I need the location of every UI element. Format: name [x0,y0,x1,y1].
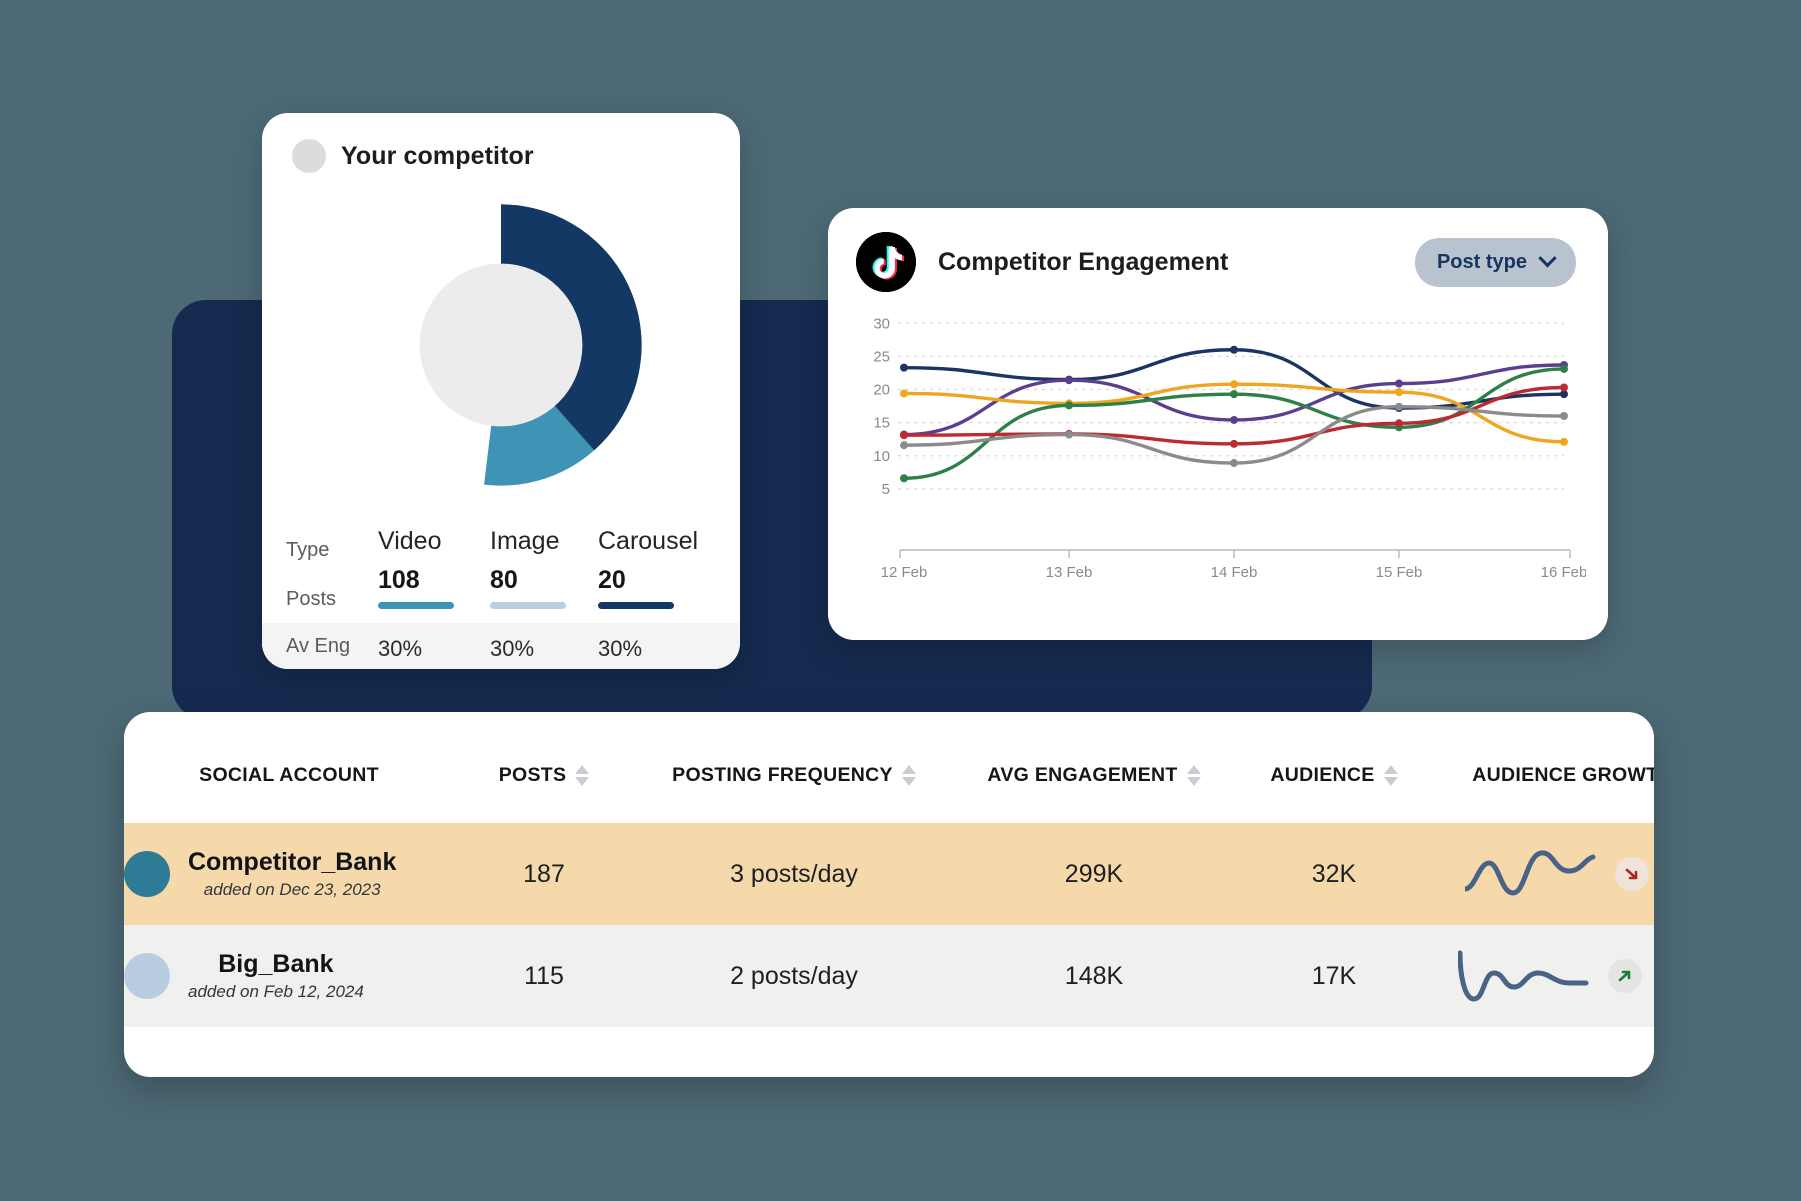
stats-aveng-video: 30% [378,635,490,662]
post-type-donut-chart [353,197,649,493]
cell-posts: 187 [454,823,634,925]
data-point [1395,419,1403,427]
data-point [1395,388,1403,396]
stats-posts-row: Posts 108 80 20 [286,566,716,615]
cell-audience-growth: 15% [1434,925,1654,1027]
stats-aveng-label: Av Eng [286,635,378,662]
arrow-down-right-icon [1615,857,1649,891]
y-axis-tick: 15 [873,415,890,432]
stats-posts-image: 80 [490,566,598,595]
cell-posting-frequency: 2 posts/day [634,925,954,1027]
column-header-audience-growth[interactable]: AUDIENCE GROWTH [1434,712,1654,823]
data-point [1230,390,1238,398]
header-label: AVG ENGAGEMENT [987,764,1177,787]
cell-posting-frequency: 3 posts/day [634,823,954,925]
y-axis-tick: 30 [873,315,890,332]
data-point [1230,459,1238,467]
stats-aveng-row: Av Eng 30% 30% 30% [262,623,740,669]
stats-posts-image-cell: 80 [490,566,598,615]
sort-icon[interactable] [575,765,589,786]
stats-aveng-carousel: 30% [598,635,716,662]
dashboard-stage: Your competitor Type Video Image Carouse… [0,0,1801,1201]
column-header-audience[interactable]: AUDIENCE [1234,712,1434,823]
account-added-date: added on Dec 23, 2023 [188,880,396,900]
stats-bar-carousel [598,602,674,609]
post-type-filter-label: Post type [1437,251,1527,274]
competitor-donut-card: Your competitor Type Video Image Carouse… [262,113,740,669]
header-label: SOCIAL ACCOUNT [199,764,379,787]
data-point [1230,380,1238,388]
account-name: Big_Bank [188,950,364,979]
data-point [1560,438,1568,446]
cell-audience: 17K [1234,925,1434,1027]
donut-chart-wrap [262,197,740,493]
stats-aveng-image: 30% [490,635,598,662]
cell-avg-engagement: 299K [954,823,1234,925]
account-added-date: added on Feb 12, 2024 [188,982,364,1002]
social-accounts-table-card: SOCIAL ACCOUNT POSTS POSTING FREQUENCY [124,712,1654,1077]
data-point [900,389,908,397]
stats-posts-video: 108 [378,566,490,595]
stats-posts-label: Posts [286,566,378,615]
data-point [1395,380,1403,388]
x-axis-label: 12 Feb [881,564,928,581]
data-point [1560,384,1568,392]
cell-social-account: Competitor_Bank added on Dec 23, 2023 [124,823,454,925]
x-axis-label: 13 Feb [1046,564,1093,581]
stats-posts-carousel: 20 [598,566,716,595]
chevron-down-icon [1538,249,1556,267]
social-accounts-table: SOCIAL ACCOUNT POSTS POSTING FREQUENCY [124,712,1654,1027]
account-avatar-icon [124,953,170,999]
y-axis-tick: 10 [873,448,890,465]
sort-icon[interactable] [902,765,916,786]
stats-type-carousel: Carousel [598,527,716,566]
stats-posts-carousel-cell: 20 [598,566,716,615]
y-axis-tick: 25 [873,348,890,365]
cell-audience-growth: 8% [1434,823,1654,925]
table-header-row: SOCIAL ACCOUNT POSTS POSTING FREQUENCY [124,712,1654,823]
data-point [900,364,908,372]
engagement-line-plot: 5101520253012 Feb13 Feb14 Feb15 Feb16 Fe… [846,302,1586,592]
stats-type-label: Type [286,527,378,566]
growth-sparkline [1458,947,1590,1005]
table-row[interactable]: Big_Bank added on Feb 12, 2024 115 2 pos… [124,925,1654,1027]
data-point [1395,403,1403,411]
x-axis-label: 14 Feb [1211,564,1258,581]
data-point [1560,365,1568,373]
header-label: AUDIENCE [1270,764,1374,787]
donut-card-header: Your competitor [262,113,740,173]
x-axis-label: 16 Feb [1541,564,1586,581]
cell-posts: 115 [454,925,634,1027]
stats-type-video: Video [378,527,490,566]
data-point [1230,346,1238,354]
y-axis-tick: 5 [882,481,890,498]
data-point [900,431,908,439]
donut-card-title: Your competitor [341,142,534,171]
stats-bar-video [378,602,454,609]
data-point [1560,412,1568,420]
avatar-circle-icon [292,139,326,173]
arrow-up-right-icon [1608,959,1642,993]
column-header-social-account[interactable]: SOCIAL ACCOUNT [124,712,454,823]
growth-sparkline [1465,845,1597,903]
post-type-filter-button[interactable]: Post type [1415,238,1576,287]
stats-type-row: Type Video Image Carousel [286,527,716,566]
engagement-card-header: Competitor Engagement Post type [828,208,1608,292]
cell-audience: 32K [1234,823,1434,925]
data-point [900,441,908,449]
sort-icon[interactable] [1187,765,1201,786]
column-header-posts[interactable]: POSTS [454,712,634,823]
column-header-posting-frequency[interactable]: POSTING FREQUENCY [634,712,954,823]
stats-bar-image [490,602,566,609]
data-point [1065,376,1073,384]
data-point [1230,416,1238,424]
engagement-card-title: Competitor Engagement [938,248,1228,277]
stats-posts-video-cell: 108 [378,566,490,615]
x-axis-label: 15 Feb [1376,564,1423,581]
header-label: POSTS [499,764,567,787]
cell-social-account: Big_Bank added on Feb 12, 2024 [124,925,454,1027]
data-point [1065,401,1073,409]
cell-avg-engagement: 148K [954,925,1234,1027]
sort-icon[interactable] [1384,765,1398,786]
competitor-engagement-card: Competitor Engagement Post type 51015202… [828,208,1608,640]
header-label: AUDIENCE GROWTH [1472,764,1654,787]
post-type-stats: Type Video Image Carousel Posts 108 80 [262,527,740,669]
stats-type-image: Image [490,527,598,566]
tiktok-icon [856,232,916,292]
data-point [1230,440,1238,448]
column-header-avg-engagement[interactable]: AVG ENGAGEMENT [954,712,1234,823]
header-label: POSTING FREQUENCY [672,764,893,787]
table-row[interactable]: Competitor_Bank added on Dec 23, 2023 18… [124,823,1654,925]
account-name: Competitor_Bank [188,848,396,877]
data-point [1065,431,1073,439]
data-point [900,474,908,482]
account-avatar-icon [124,851,170,897]
y-axis-tick: 20 [873,382,890,399]
